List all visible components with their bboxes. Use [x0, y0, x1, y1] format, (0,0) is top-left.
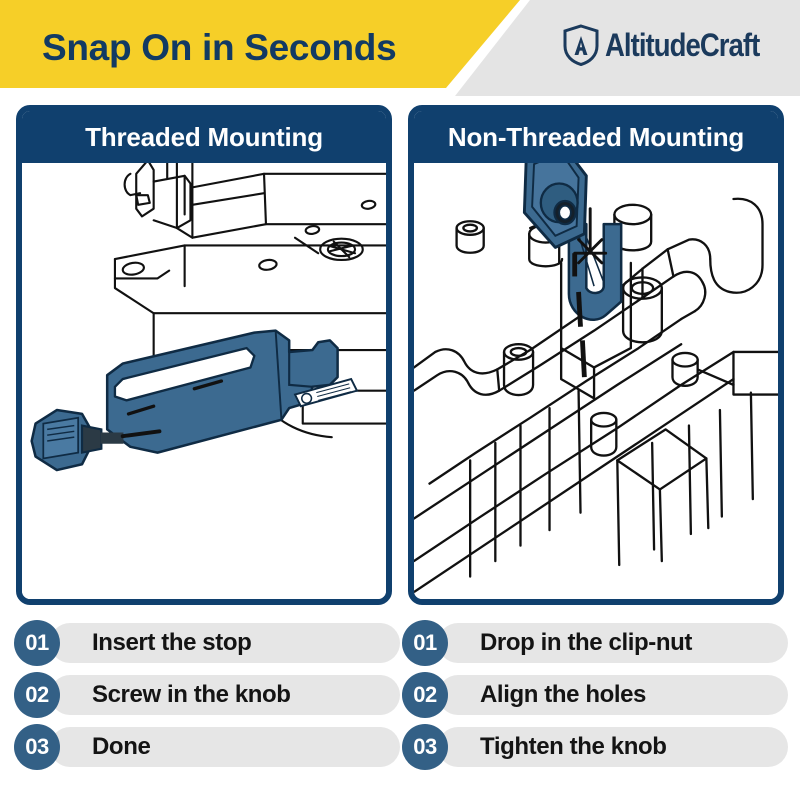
header-banner: Snap On in Seconds AltitudeCraft: [0, 0, 800, 96]
steps-column-non-threaded: 01 Drop in the clip-nut 02 Align the hol…: [402, 618, 788, 788]
illustration-threaded-mounting: [22, 163, 386, 599]
step-pill: Screw in the knob: [50, 675, 400, 715]
step-row[interactable]: 01 Insert the stop: [14, 620, 400, 666]
step-label: Insert the stop: [92, 629, 251, 657]
step-row[interactable]: 02 Align the holes: [402, 672, 788, 718]
step-number-badge: 03: [402, 724, 448, 770]
illustration-non-threaded-mounting: [414, 163, 778, 599]
step-label: Done: [92, 733, 150, 761]
infographic-page: Snap On in Seconds AltitudeCraft Threade…: [0, 0, 800, 800]
step-number-badge: 01: [402, 620, 448, 666]
step-row[interactable]: 03 Tighten the knob: [402, 724, 788, 770]
step-label: Drop in the clip-nut: [480, 629, 692, 657]
threaded-mounting-line-art: [22, 163, 386, 599]
panel-non-threaded-mounting: Non-Threaded Mounting: [408, 105, 784, 605]
non-threaded-mounting-line-art: [414, 163, 778, 599]
step-row[interactable]: 03 Done: [14, 724, 400, 770]
step-number-badge: 03: [14, 724, 60, 770]
step-row[interactable]: 01 Drop in the clip-nut: [402, 620, 788, 666]
step-label: Align the holes: [480, 681, 646, 709]
step-number-badge: 02: [402, 672, 448, 718]
panel-threaded-mounting: Threaded Mounting: [16, 105, 392, 605]
step-pill: Drop in the clip-nut: [438, 623, 788, 663]
step-pill: Done: [50, 727, 400, 767]
clip-nut-part: [524, 163, 586, 247]
step-number-badge: 02: [14, 672, 60, 718]
step-number-badge: 01: [14, 620, 60, 666]
step-pill: Align the holes: [438, 675, 788, 715]
step-pill: Insert the stop: [50, 623, 400, 663]
steps-column-threaded: 01 Insert the stop 02 Screw in the knob …: [14, 618, 400, 788]
step-row[interactable]: 02 Screw in the knob: [14, 672, 400, 718]
shield-a-logo-icon: [562, 24, 600, 66]
step-label: Tighten the knob: [480, 733, 666, 761]
step-label: Screw in the knob: [92, 681, 291, 709]
brand-name: AltitudeCraft: [605, 27, 759, 64]
step-pill: Tighten the knob: [438, 727, 788, 767]
brand-logo: AltitudeCraft: [562, 22, 784, 68]
panel-title-threaded: Threaded Mounting: [22, 111, 386, 163]
page-title: Snap On in Seconds: [42, 20, 462, 76]
panel-title-non-threaded: Non-Threaded Mounting: [414, 111, 778, 163]
